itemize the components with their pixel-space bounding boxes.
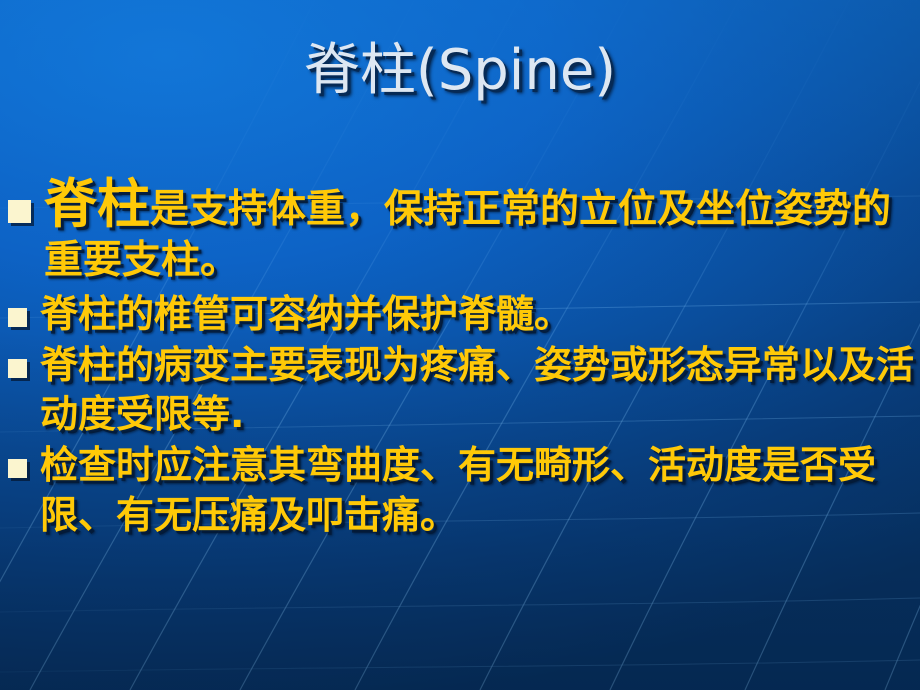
bullet-text: 脊柱的椎管可容纳并保护脊髓。: [40, 290, 914, 338]
list-item: 脊柱的病变主要表现为疼痛、姿势或形态异常以及活动度受限等.: [8, 341, 914, 440]
square-bullet-icon: [8, 200, 31, 223]
page-title: 脊柱(Spine): [0, 40, 920, 102]
bullet-body-text: 是支持体重，保持正常的立位及坐位姿势的重要支柱。: [44, 187, 891, 283]
list-item: 脊柱是支持体重，保持正常的立位及坐位姿势的重要支柱。: [8, 178, 914, 286]
bullet-text: 脊柱是支持体重，保持正常的立位及坐位姿势的重要支柱。: [44, 178, 914, 286]
bullet-lead-text: 脊柱: [44, 174, 150, 235]
bullet-list: 脊柱是支持体重，保持正常的立位及坐位姿势的重要支柱。 脊柱的椎管可容纳并保护脊髓…: [8, 178, 914, 546]
square-bullet-icon: [8, 308, 27, 327]
bullet-text: 检查时应注意其弯曲度、有无畸形、活动度是否受限、有无压痛及叩击痛。: [40, 441, 914, 540]
list-item: 脊柱的椎管可容纳并保护脊髓。: [8, 290, 914, 338]
list-item: 检查时应注意其弯曲度、有无畸形、活动度是否受限、有无压痛及叩击痛。: [8, 441, 914, 540]
bullet-text: 脊柱的病变主要表现为疼痛、姿势或形态异常以及活动度受限等.: [40, 341, 914, 440]
square-bullet-icon: [8, 359, 27, 378]
presentation-slide: 脊柱(Spine) 脊柱是支持体重，保持正常的立位及坐位姿势的重要支柱。 脊柱的…: [0, 0, 920, 690]
square-bullet-icon: [8, 459, 27, 478]
